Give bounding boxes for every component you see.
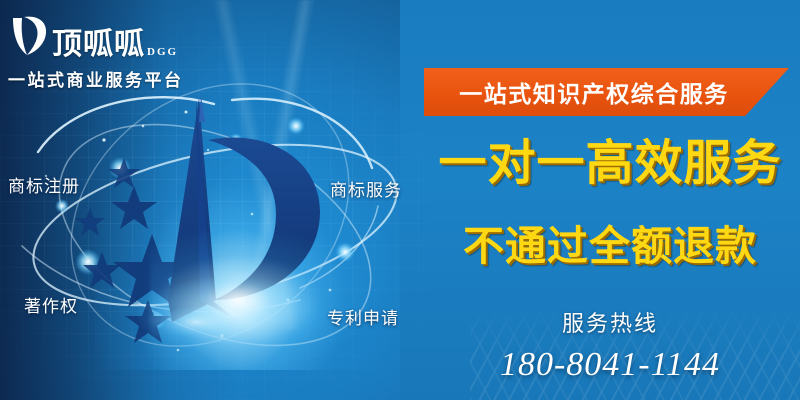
keyword-trademark-service: 商标服务 xyxy=(330,176,402,201)
headline-secondary: 不通过全额退款 xyxy=(420,226,800,267)
light-burst-secondary-icon xyxy=(150,230,370,370)
brand-name: 顶呱呱 xyxy=(52,30,145,60)
brand-logo[interactable]: 顶呱呱 DGG 一站式商业服务平台 xyxy=(8,8,198,91)
watermark-texture xyxy=(470,305,800,400)
keyword-trademark-registration: 商标注册 xyxy=(8,172,80,197)
ribbon-text: 一站式知识产权综合服务 xyxy=(424,68,764,116)
headline-primary: 一对一高效服务 xyxy=(420,140,800,188)
brand-tagline: 一站式商业服务平台 xyxy=(8,66,198,91)
keyword-copyright: 著作权 xyxy=(24,292,78,317)
ip-leaf-logo-icon xyxy=(8,10,50,60)
keyword-patent-application: 专利申请 xyxy=(327,304,399,329)
promotional-banner: 顶呱呱 DGG 一站式商业服务平台 商标注册 著作权 商标服务 专利申请 一站式… xyxy=(0,0,800,400)
logo-row: 顶呱呱 DGG xyxy=(8,8,198,60)
brand-latin: DGG xyxy=(147,46,178,60)
